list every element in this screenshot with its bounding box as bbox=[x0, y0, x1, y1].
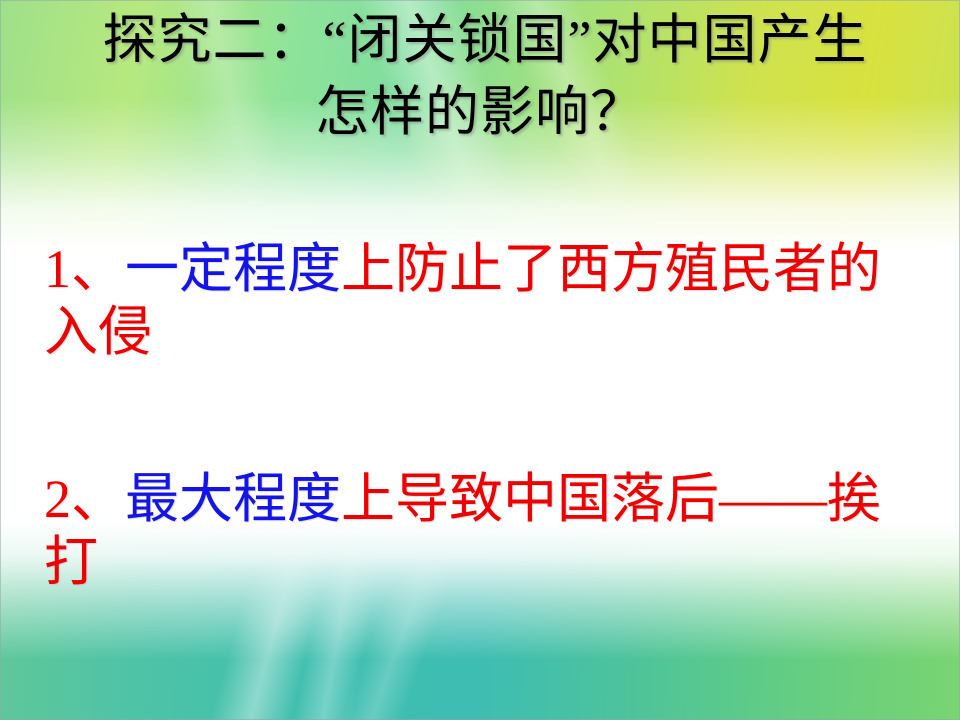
body-paragraph-1: 1、一定程度上防止了西方殖民者的入侵 bbox=[44, 238, 930, 363]
presentation-slide: 探究二：“闭关锁国”对中国产生 怎样的影响？ 1、一定程度上防止了西方殖民者的入… bbox=[0, 0, 960, 720]
title-line-1: 探究二：“闭关锁国”对中国产生 bbox=[0, 8, 960, 74]
slide-title: 探究二：“闭关锁国”对中国产生 怎样的影响？ bbox=[0, 8, 960, 146]
paragraph-1-marker: 1、 bbox=[44, 239, 125, 299]
body-paragraph-2: 2、最大程度上导致中国落后——挨打 bbox=[44, 468, 930, 593]
slide-body: 1、一定程度上防止了西方殖民者的入侵 2、最大程度上导致中国落后——挨打 bbox=[44, 238, 930, 594]
slide-content: 探究二：“闭关锁国”对中国产生 怎样的影响？ 1、一定程度上防止了西方殖民者的入… bbox=[0, 0, 960, 720]
paragraph-2-highlight: 最大程度 bbox=[125, 469, 341, 529]
title-line-2: 怎样的影响？ bbox=[0, 80, 960, 146]
paragraph-1-highlight: 一定程度 bbox=[125, 239, 341, 299]
paragraph-2-marker: 2、 bbox=[44, 469, 125, 529]
